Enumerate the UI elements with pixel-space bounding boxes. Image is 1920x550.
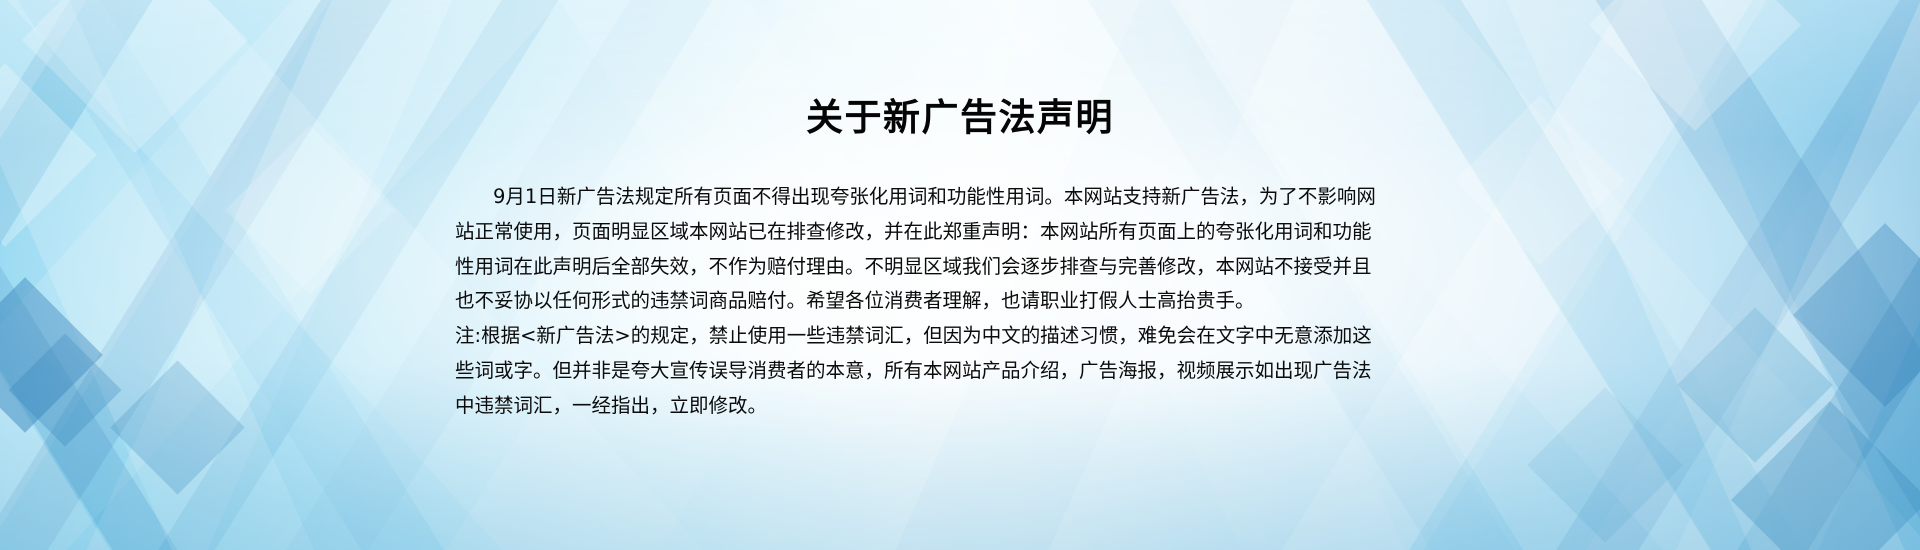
statement-content: 关于新广告法声明 9月1日新广告法规定所有页面不得出现夸张化用词和功能性用词。本… — [0, 0, 1920, 550]
statement-body: 9月1日新广告法规定所有页面不得出现夸张化用词和功能性用词。本网站支持新广告法，… — [455, 180, 1445, 424]
statement-line: 9月1日新广告法规定所有页面不得出现夸张化用词和功能性用词。本网站支持新广告法，… — [455, 180, 1445, 215]
statement-line: 注:根据<新广告法>的规定，禁止使用一些违禁词汇，但因为中文的描述习惯，难免会在… — [455, 319, 1445, 354]
new-ad-law-statement-banner: 关于新广告法声明 9月1日新广告法规定所有页面不得出现夸张化用词和功能性用词。本… — [0, 0, 1920, 550]
statement-line: 些词或字。但并非是夸大宣传误导消费者的本意，所有本网站产品介绍，广告海报，视频展… — [455, 354, 1445, 389]
statement-paragraph-1: 9月1日新广告法规定所有页面不得出现夸张化用词和功能性用词。本网站支持新广告法，… — [455, 180, 1445, 319]
statement-line: 中违禁词汇，一经指出，立即修改。 — [455, 389, 1445, 424]
statement-paragraph-2: 注:根据<新广告法>的规定，禁止使用一些违禁词汇，但因为中文的描述习惯，难免会在… — [455, 319, 1445, 423]
statement-line: 性用词在此声明后全部失效，不作为赔付理由。不明显区域我们会逐步排查与完善修改，本… — [455, 250, 1445, 285]
statement-line: 站正常使用，页面明显区域本网站已在排查修改，并在此郑重声明：本网站所有页面上的夸… — [455, 215, 1445, 250]
page-title: 关于新广告法声明 — [0, 96, 1920, 140]
statement-line: 也不妥协以任何形式的违禁词商品赔付。希望各位消费者理解，也请职业打假人士高抬贵手… — [455, 284, 1445, 319]
